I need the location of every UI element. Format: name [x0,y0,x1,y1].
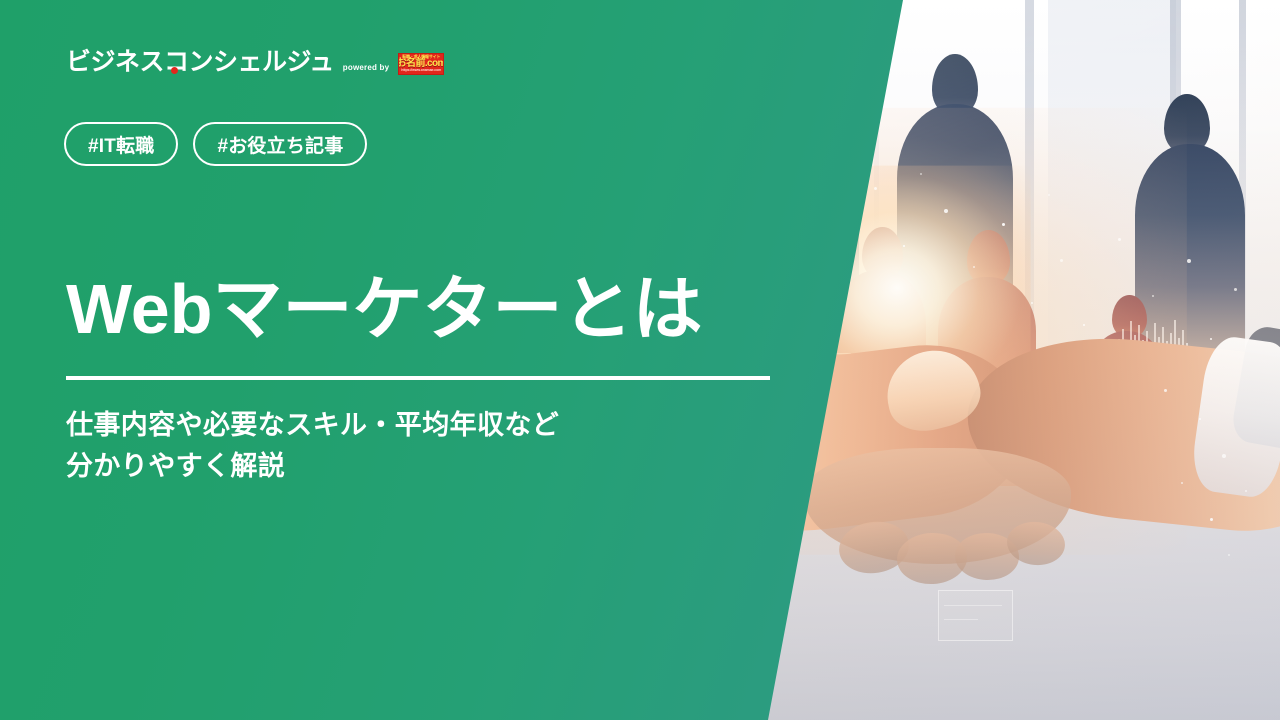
title-divider [66,376,770,380]
logo-red-dot-icon [171,67,178,74]
site-logo[interactable]: ビジネスコンシェルジュ powered by 転職・求人情報サイト お名前.co… [66,50,444,75]
subtitle-line-1: 仕事内容や必要なスキル・平均年収など [66,405,806,446]
article-thumbnail-banner: ビジネスコンシェルジュ powered by 転職・求人情報サイト お名前.co… [0,0,1280,720]
onamae-com-badge-icon[interactable]: 転職・求人情報サイト お名前.com https://www.onamae.co… [398,53,444,75]
badge-bottom-line: https://www.onamae.com [401,69,441,73]
subtitle-line-2: 分かりやすく解説 [66,446,806,487]
logo-brand-label: ビジネスコンシェルジュ [66,48,334,76]
tag-oyakudachi-kiji[interactable]: #お役立ち記事 [193,122,367,166]
page-subtitle: 仕事内容や必要なスキル・平均年収など 分かりやすく解説 [66,405,806,486]
logo-brand-text: ビジネスコンシェルジュ [66,50,334,75]
tag-it-tenshoku[interactable]: #IT転職 [64,122,178,166]
tag-list: #IT転職 #お役立ち記事 [64,122,367,166]
logo-powered-by-label: powered by [343,64,389,75]
page-title: Webマーケターとは [66,272,806,346]
headline-block: Webマーケターとは 仕事内容や必要なスキル・平均年収など 分かりやすく解説 [66,272,806,486]
